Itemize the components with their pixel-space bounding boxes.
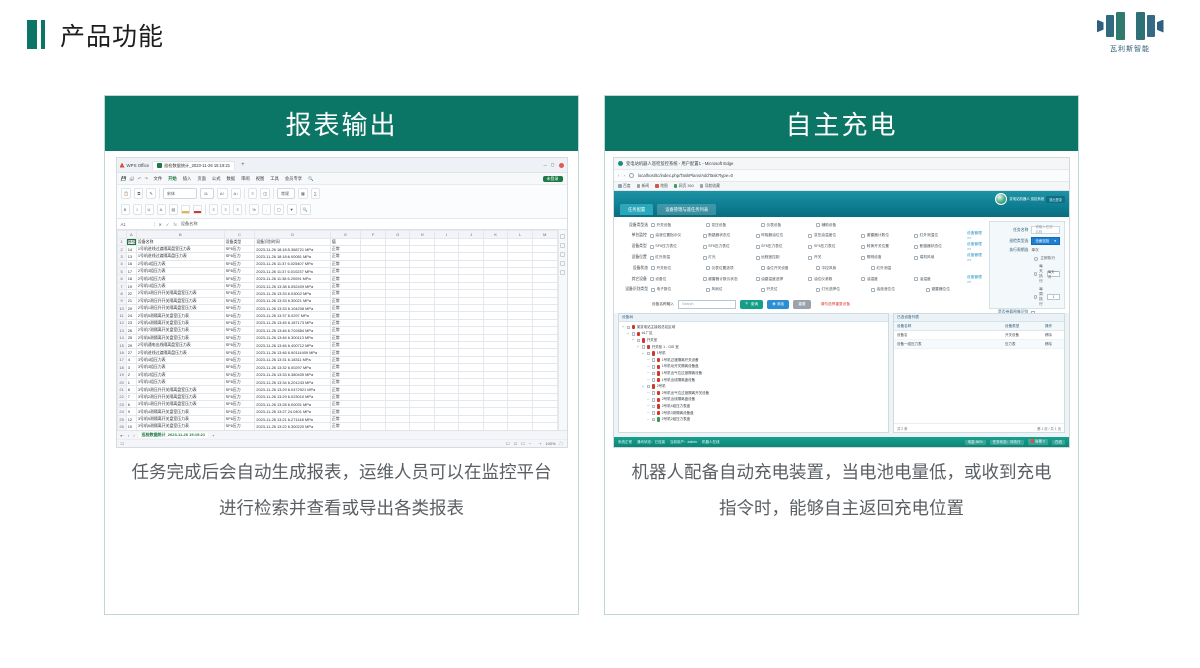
- cell-timestamp-value[interactable]: 2023-11-26 11:37 6.010237 MPa: [255, 268, 331, 275]
- wps-menu-bar[interactable]: 💾 🖨 ↶ ↷ 文件 开始 插入 页面 公式 数据 审阅 视图 工具 会员专享 …: [117, 173, 567, 185]
- device-checkbox[interactable]: 远程遥控制: [756, 255, 806, 260]
- empty-cell[interactable]: [483, 245, 508, 252]
- empty-cell[interactable]: [483, 297, 508, 304]
- selected-device-rows[interactable]: 设备名开关设备移除设备一组压力表压力表移除: [894, 331, 1064, 349]
- row-header[interactable]: 24: [117, 408, 126, 415]
- empty-cell[interactable]: [483, 253, 508, 260]
- empty-cell[interactable]: [434, 415, 459, 422]
- cell-device-name[interactable]: 3号机5测隔离开关盘室压力表: [136, 415, 224, 422]
- row-header[interactable]: 22: [117, 393, 126, 400]
- empty-cell[interactable]: [532, 371, 557, 378]
- cell-index[interactable]: 8: [126, 386, 136, 393]
- cell-timestamp-value[interactable]: 2023-11-26 13:27 24.0401 MPa: [255, 408, 331, 415]
- cell-index[interactable]: 12: [126, 415, 136, 422]
- table-row[interactable]: 2183号机3测压升开关隔离盘室压力表SF6压力2023-11-26 13:29…: [117, 386, 557, 393]
- device-manage-link[interactable]: 设备管理>>: [967, 275, 985, 284]
- table-row[interactable]: 4162号机4组压力表SF6压力2023-11-26 11:37 6.02540…: [117, 260, 557, 267]
- empty-cell[interactable]: [434, 253, 459, 260]
- empty-cell[interactable]: [361, 341, 386, 348]
- cell-device-type[interactable]: SF6压力: [224, 386, 255, 393]
- cell-timestamp-value[interactable]: 2023-11-26 13:33 6.380405 MPa: [255, 371, 331, 378]
- cell-device-type[interactable]: SF6压力: [224, 423, 255, 430]
- empty-cell[interactable]: [459, 312, 484, 319]
- help-panel-icon[interactable]: [560, 270, 565, 275]
- row-header[interactable]: 3: [117, 253, 126, 260]
- prev-sheet-icon[interactable]: ‹: [128, 433, 129, 438]
- checkbox-icon[interactable]: [861, 245, 865, 249]
- table-style-button[interactable]: ▦: [298, 188, 308, 199]
- radio-icon[interactable]: [1034, 295, 1037, 299]
- row-header[interactable]: 1: [117, 238, 126, 245]
- empty-cell[interactable]: [385, 245, 410, 252]
- checkbox-icon[interactable]: [651, 266, 655, 270]
- reset-button[interactable]: 重置: [793, 300, 810, 309]
- cell-device-name[interactable]: 3号机4组压力表: [136, 356, 224, 363]
- cell-result[interactable]: 正常: [330, 253, 361, 260]
- underline-button[interactable]: U: [145, 204, 154, 215]
- empty-cell[interactable]: [434, 245, 459, 252]
- cell-result[interactable]: 正常: [330, 312, 361, 319]
- table-row[interactable]: 7192号机1组压力表SF6压力2023-11-26 13:38 6.05240…: [117, 282, 557, 289]
- checkbox-icon[interactable]: [808, 256, 812, 260]
- empty-cell[interactable]: [508, 238, 533, 245]
- empty-cell[interactable]: [434, 393, 459, 400]
- empty-cell[interactable]: [483, 371, 508, 378]
- col-header-a[interactable]: A: [126, 231, 136, 239]
- cell-device-name[interactable]: 3号机3组压力表: [136, 364, 224, 371]
- checkbox-icon[interactable]: [816, 223, 820, 227]
- empty-cell[interactable]: [385, 415, 410, 422]
- cell-device-name[interactable]: 1号机进线过渡隔离盘室压力表: [136, 245, 224, 252]
- checkbox-icon[interactable]: [651, 223, 655, 227]
- tree-node[interactable]: +开关室: [622, 337, 885, 344]
- cell-timestamp-value[interactable]: 2023-11-26 13:28 6.00031 MPa: [255, 401, 331, 408]
- checkbox-icon[interactable]: [816, 288, 820, 292]
- bookmarks-bar[interactable]: 百度 新闻 地图 网页 360 导航收藏: [614, 182, 1069, 191]
- empty-cell[interactable]: [361, 415, 386, 422]
- device-checkbox[interactable]: 油位开关设备: [761, 266, 813, 271]
- device-checkbox[interactable]: 红外测温: [871, 266, 923, 271]
- checkbox-icon[interactable]: [761, 223, 765, 227]
- empty-cell[interactable]: [459, 319, 484, 326]
- empty-cell[interactable]: [532, 378, 557, 385]
- empty-cell[interactable]: [532, 415, 557, 422]
- device-checkbox[interactable]: 灯光选择位: [816, 287, 868, 292]
- empty-cell[interactable]: [385, 408, 410, 415]
- empty-cell[interactable]: [508, 401, 533, 408]
- fullscreen-icon[interactable]: ⛶: [560, 441, 563, 446]
- empty-cell[interactable]: [410, 282, 435, 289]
- device-checkbox[interactable]: SF6压力表位: [650, 244, 700, 249]
- empty-cell[interactable]: [434, 312, 459, 319]
- device-checkbox[interactable]: 避雷器位位: [926, 287, 978, 292]
- device-search-input[interactable]: Search: [678, 300, 736, 309]
- cell-result[interactable]: 正常: [330, 245, 361, 252]
- checkbox-icon[interactable]: [756, 234, 760, 238]
- empty-cell[interactable]: [532, 401, 557, 408]
- decrease-font-button[interactable]: A↓: [231, 188, 242, 199]
- checkbox-icon[interactable]: [914, 245, 918, 249]
- new-tab-button[interactable]: +: [238, 162, 248, 168]
- empty-cell[interactable]: [459, 349, 484, 356]
- cell-timestamp-value[interactable]: 2023-11-26 13:32 6.00297 MPa: [255, 364, 331, 371]
- empty-cell[interactable]: [434, 349, 459, 356]
- empty-cell[interactable]: [459, 305, 484, 312]
- tree-checkbox-icon[interactable]: [647, 352, 651, 356]
- device-checkbox[interactable]: 避雷器计数位: [861, 233, 911, 238]
- cell-device-type[interactable]: SF6压力: [224, 408, 255, 415]
- empty-cell[interactable]: [410, 334, 435, 341]
- device-checkbox[interactable]: 油液位置指示仪: [650, 233, 700, 238]
- row-header[interactable]: 17: [117, 356, 126, 363]
- quick-access-toolbar[interactable]: 💾 🖨 ↶ ↷: [121, 176, 148, 182]
- empty-cell[interactable]: [532, 423, 557, 430]
- table-row[interactable]: 12232号机4测隔离开关盘室压力表SF6压力2023-11-26 13:45 …: [117, 319, 557, 326]
- remove-device-button[interactable]: 移除: [1042, 340, 1064, 348]
- header-cell[interactable]: 值: [330, 238, 361, 245]
- cell-device-name[interactable]: 2号机通电出线隔离盘室压力表: [136, 341, 224, 348]
- empty-cell[interactable]: [361, 275, 386, 282]
- row-header[interactable]: 5: [117, 268, 126, 275]
- empty-cell[interactable]: [361, 268, 386, 275]
- autosum-button[interactable]: ∑: [311, 188, 320, 199]
- device-checkbox[interactable]: 开关: [808, 255, 858, 260]
- query-button[interactable]: 🔍 查询: [740, 300, 763, 309]
- url-text[interactable]: localhost/tc/index.php/TaskPlans/AddTask…: [638, 173, 733, 178]
- tree-node[interactable]: ─1号机过渡隔离开关设备: [622, 357, 885, 364]
- table-row[interactable]: 2273号机2测压升开关隔离盘室压力表SF6压力2023-11-26 13:29…: [117, 393, 557, 400]
- tree-toggle-icon[interactable]: +: [642, 352, 645, 356]
- row-header[interactable]: 10: [117, 305, 126, 312]
- row-header[interactable]: 8: [117, 290, 126, 297]
- cell-index[interactable]: 2: [126, 371, 136, 378]
- empty-cell[interactable]: [459, 378, 484, 385]
- empty-cell[interactable]: [361, 349, 386, 356]
- cell-device-name[interactable]: 2号机3测压升开关隔离盘室压力表: [136, 290, 224, 297]
- tree-node[interactable]: ─1号机出线隔离盘设备: [622, 377, 885, 384]
- tree-toggle-icon[interactable]: +: [622, 325, 625, 329]
- cell-timestamp-value[interactable]: 2023-11-26 18:18:6.00081 MPa: [255, 253, 331, 260]
- tree-toggle-icon[interactable]: ─: [647, 404, 650, 408]
- cell-index[interactable]: 14: [126, 245, 136, 252]
- empty-cell[interactable]: [459, 268, 484, 275]
- cell-timestamp-value[interactable]: 2023-11-26 13:46 6.400712 MPa: [255, 341, 331, 348]
- cell-device-name[interactable]: 3号机1测压升开关隔离盘室压力表: [136, 401, 224, 408]
- empty-cell[interactable]: [459, 245, 484, 252]
- tree-toggle-icon[interactable]: ─: [647, 418, 650, 422]
- tree-checkbox-icon[interactable]: [647, 385, 651, 389]
- header-cell[interactable]: 序号: [126, 238, 136, 245]
- tree-toggle-icon[interactable]: ─: [647, 371, 650, 375]
- empty-cell[interactable]: [483, 386, 508, 393]
- tree-checkbox-icon[interactable]: [652, 418, 656, 422]
- weekly-day-select[interactable]: 1: [1047, 294, 1060, 300]
- cell-index[interactable]: 19: [126, 282, 136, 289]
- table-row[interactable]: 8222号机3测压升开关隔离盘室压力表SF6压力2023-11-26 13:33…: [117, 290, 557, 297]
- col-header-k[interactable]: K: [483, 231, 508, 239]
- empty-cell[interactable]: [385, 334, 410, 341]
- empty-cell[interactable]: [483, 282, 508, 289]
- empty-cell[interactable]: [385, 319, 410, 326]
- empty-cell[interactable]: [434, 356, 459, 363]
- cell-result[interactable]: 正常: [330, 327, 361, 334]
- table-row[interactable]: 1序号设备名称设备类型设备识别时间值: [117, 238, 557, 245]
- empty-cell[interactable]: [410, 290, 435, 297]
- cell-device-name[interactable]: 2号机2测压升开关隔离盘室压力表: [136, 297, 224, 304]
- checkbox-icon[interactable]: [756, 256, 760, 260]
- empty-cell[interactable]: [483, 290, 508, 297]
- tree-node[interactable]: ─2号机出线隔离盘设备: [622, 397, 885, 404]
- empty-cell[interactable]: [532, 408, 557, 415]
- zoom-level[interactable]: 100%: [545, 441, 555, 446]
- tree-node[interactable]: +2号机: [622, 383, 885, 390]
- cell-device-name[interactable]: 2号机5测隔离开关盘室压力表: [136, 312, 224, 319]
- empty-cell[interactable]: [459, 290, 484, 297]
- row-header[interactable]: 2: [117, 245, 126, 252]
- cell-device-type[interactable]: SF6压力: [224, 297, 255, 304]
- empty-cell[interactable]: [361, 401, 386, 408]
- header-cell[interactable]: 设备名称: [136, 238, 224, 245]
- empty-cell[interactable]: [532, 364, 557, 371]
- cell-result[interactable]: 正常: [330, 393, 361, 400]
- col-header-g[interactable]: G: [385, 231, 410, 239]
- cell-index[interactable]: 17: [126, 268, 136, 275]
- cell-device-name[interactable]: 2号机4组压力表: [136, 260, 224, 267]
- empty-cell[interactable]: [434, 341, 459, 348]
- tree-checkbox-icon[interactable]: [652, 405, 656, 409]
- table-row[interactable]: 3131号机进线过渡隔离盘压力表SF6压力2023-11-26 18:18:6.…: [117, 253, 557, 260]
- tree-node[interactable]: +1号机: [622, 350, 885, 357]
- empty-cell[interactable]: [483, 275, 508, 282]
- empty-cell[interactable]: [483, 423, 508, 430]
- cell-device-name[interactable]: 2号机6测隔离开关盘室压力表: [136, 334, 224, 341]
- cell-device-name[interactable]: 2号机1组压力表: [136, 282, 224, 289]
- reading-view-icon[interactable]: ☐: [521, 441, 525, 446]
- tree-checkbox-icon[interactable]: [652, 398, 656, 402]
- empty-cell[interactable]: [483, 327, 508, 334]
- zoom-in-button[interactable]: +: [539, 441, 541, 446]
- cell-device-name[interactable]: 2号机1测压升开关隔离盘室压力表: [136, 305, 224, 312]
- empty-cell[interactable]: [508, 364, 533, 371]
- cell-timestamp-value[interactable]: 2023-11-26 13:46 6.90114409 MPa: [255, 349, 331, 356]
- checkbox-icon[interactable]: [926, 288, 930, 292]
- empty-cell[interactable]: [508, 349, 533, 356]
- col-header-e[interactable]: E: [330, 231, 361, 239]
- redo-icon[interactable]: ↷: [144, 176, 148, 182]
- browser-address-bar[interactable]: ‹ › localhost/tc/index.php/TaskPlans/Add…: [614, 170, 1069, 182]
- window-controls[interactable]: ─ ◻: [544, 162, 564, 168]
- checkbox-icon[interactable]: [914, 256, 918, 260]
- cell-index[interactable]: 10: [126, 423, 136, 430]
- empty-cell[interactable]: [410, 386, 435, 393]
- empty-cell[interactable]: [508, 275, 533, 282]
- tree-node[interactable]: ─2号机2组压力表盘: [622, 416, 885, 423]
- add-sheet-button[interactable]: +: [212, 433, 214, 438]
- empty-cell[interactable]: [434, 268, 459, 275]
- checkbox-icon[interactable]: [861, 234, 865, 238]
- sheet-side-rail[interactable]: [558, 230, 567, 430]
- checkbox-icon[interactable]: [703, 277, 707, 281]
- empty-cell[interactable]: [532, 341, 557, 348]
- checkbox-icon[interactable]: [914, 277, 918, 281]
- format-painter-button[interactable]: ✎: [146, 188, 155, 199]
- cell-device-name[interactable]: 3号机2组压力表: [136, 371, 224, 378]
- login-button[interactable]: 未登录: [543, 176, 563, 182]
- number-format-select[interactable]: 常规: [277, 188, 295, 199]
- back-icon[interactable]: ‹: [618, 173, 619, 178]
- cell-device-type[interactable]: SF6压力: [224, 312, 255, 319]
- tree-toggle-icon[interactable]: ─: [647, 398, 650, 402]
- row-header[interactable]: 13: [117, 327, 126, 334]
- cell-result[interactable]: 正常: [330, 260, 361, 267]
- device-manage-link[interactable]: 设备管理>>: [967, 253, 985, 262]
- col-header-l[interactable]: L: [508, 231, 533, 239]
- empty-cell[interactable]: [508, 305, 533, 312]
- cell-result[interactable]: 正常: [330, 415, 361, 422]
- empty-cell[interactable]: [385, 305, 410, 312]
- tree-toggle-icon[interactable]: +: [632, 338, 635, 342]
- tree-checkbox-icon[interactable]: [642, 345, 646, 349]
- cell-index[interactable]: 18: [126, 275, 136, 282]
- device-checkbox[interactable]: 风扇位: [706, 287, 758, 292]
- empty-cell[interactable]: [410, 341, 435, 348]
- empty-cell[interactable]: [434, 401, 459, 408]
- empty-cell[interactable]: [532, 260, 557, 267]
- close-icon[interactable]: [559, 163, 564, 168]
- col-header-j[interactable]: J: [459, 231, 484, 239]
- device-checkbox[interactable]: 油温度: [861, 277, 911, 282]
- empty-cell[interactable]: [385, 341, 410, 348]
- row-header[interactable]: 14: [117, 334, 126, 341]
- row-header[interactable]: 25: [117, 415, 126, 422]
- empty-cell[interactable]: [385, 253, 410, 260]
- align-right-button[interactable]: ≡: [233, 204, 242, 215]
- row-header[interactable]: 21: [117, 386, 126, 393]
- cell-device-type[interactable]: SF6压力: [224, 319, 255, 326]
- checkbox-icon[interactable]: [650, 245, 654, 249]
- empty-cell[interactable]: [508, 245, 533, 252]
- radio-immediate[interactable]: 立即执行: [994, 256, 1060, 261]
- spreadsheet-grid[interactable]: A B C D E F G H I J K L: [117, 230, 567, 430]
- empty-cell[interactable]: [410, 297, 435, 304]
- empty-cell[interactable]: [532, 334, 557, 341]
- cell-device-name[interactable]: 1号机进线过渡隔离盘压力表: [136, 253, 224, 260]
- empty-cell[interactable]: [508, 371, 533, 378]
- tree-toggle-icon[interactable]: +: [642, 385, 645, 389]
- font-color-button[interactable]: [193, 205, 202, 214]
- empty-cell[interactable]: [361, 245, 386, 252]
- tree-toggle-icon[interactable]: ─: [647, 378, 650, 382]
- device-checkbox[interactable]: SF6压力表位: [808, 244, 858, 249]
- table-row[interactable]: 1743号机4组压力表SF6压力2023-11-26 13:31 6.18311…: [117, 356, 557, 363]
- cell-result[interactable]: 正常: [330, 341, 361, 348]
- font-size-select[interactable]: 11: [200, 188, 214, 199]
- filter-button[interactable]: ▼: [287, 204, 297, 215]
- empty-cell[interactable]: [459, 253, 484, 260]
- empty-cell[interactable]: [410, 327, 435, 334]
- empty-cell[interactable]: [508, 319, 533, 326]
- empty-cell[interactable]: [508, 334, 533, 341]
- empty-cell[interactable]: [483, 260, 508, 267]
- empty-cell[interactable]: [410, 364, 435, 371]
- empty-cell[interactable]: [434, 290, 459, 297]
- cell-device-type[interactable]: SF6压力: [224, 253, 255, 260]
- cell-timestamp-value[interactable]: 2023-11-26 13:38 6.052409 MPa: [255, 282, 331, 289]
- next-sheet-icon[interactable]: ›: [133, 433, 134, 438]
- paste-button[interactable]: 📋: [121, 188, 132, 199]
- empty-cell[interactable]: [532, 238, 557, 245]
- cell-device-name[interactable]: 3号机1组压力表: [136, 378, 224, 385]
- add-button[interactable]: ✚ 添加: [767, 300, 789, 309]
- cell-index[interactable]: 25: [126, 334, 136, 341]
- table-row[interactable]: 26103号机6测隔离开关盘室压力表SF6压力2023-11-26 13:22 …: [117, 423, 557, 430]
- empty-cell[interactable]: [459, 275, 484, 282]
- logout-button[interactable]: 退出登录: [1046, 196, 1065, 203]
- cancel-edit-icon[interactable]: ✕: [159, 222, 163, 227]
- empty-cell[interactable]: [361, 334, 386, 341]
- empty-cell[interactable]: [385, 327, 410, 334]
- device-checkbox[interactable]: 仪表设备: [761, 223, 813, 228]
- cell-result[interactable]: 正常: [330, 290, 361, 297]
- empty-cell[interactable]: [532, 245, 557, 252]
- empty-cell[interactable]: [483, 415, 508, 422]
- cell-result[interactable]: 正常: [330, 297, 361, 304]
- device-checkbox[interactable]: 仪表位置选项: [706, 266, 758, 271]
- empty-cell[interactable]: [361, 371, 386, 378]
- empty-cell[interactable]: [483, 408, 508, 415]
- checkbox-icon[interactable]: [650, 277, 654, 281]
- empty-cell[interactable]: [483, 341, 508, 348]
- empty-cell[interactable]: [459, 393, 484, 400]
- empty-cell[interactable]: [434, 327, 459, 334]
- tree-node[interactable]: +开关柜 1 - GIS 室: [622, 344, 885, 351]
- empty-cell[interactable]: [508, 393, 533, 400]
- empty-cell[interactable]: [483, 319, 508, 326]
- menu-data[interactable]: 数据: [227, 176, 236, 182]
- cell-timestamp-value[interactable]: 2023-11-26 13:31 6.18311 MPa: [255, 356, 331, 363]
- checkbox-icon[interactable]: [703, 256, 707, 260]
- cell-timestamp-value[interactable]: 2023-11-26 13:33 6.03002 MPa: [255, 290, 331, 297]
- cell-result[interactable]: 正常: [330, 371, 361, 378]
- empty-cell[interactable]: [483, 364, 508, 371]
- header-cell[interactable]: [361, 238, 386, 245]
- empty-cell[interactable]: [410, 401, 435, 408]
- cell-index[interactable]: 27: [126, 349, 136, 356]
- checkbox-icon[interactable]: [706, 288, 710, 292]
- empty-cell[interactable]: [410, 371, 435, 378]
- save-icon[interactable]: 💾: [121, 176, 126, 182]
- corner-cell[interactable]: [117, 231, 126, 239]
- empty-cell[interactable]: [508, 356, 533, 363]
- cell-device-type[interactable]: SF6压力: [224, 275, 255, 282]
- device-manage-link[interactable]: 设备管理>>: [967, 242, 985, 251]
- cell-result[interactable]: 正常: [330, 334, 361, 341]
- empty-cell[interactable]: [434, 305, 459, 312]
- radio-icon[interactable]: [1034, 272, 1037, 276]
- zoom-out-button[interactable]: −: [529, 441, 531, 446]
- empty-cell[interactable]: [532, 305, 557, 312]
- table-row[interactable]: 1833号机3组压力表SF6压力2023-11-26 13:32 6.00297…: [117, 364, 557, 371]
- menu-review[interactable]: 审阅: [241, 176, 250, 182]
- tree-toggle-icon[interactable]: ─: [647, 358, 650, 362]
- tree-node[interactable]: ─2号机4组压力表盘: [622, 403, 885, 410]
- cell-result[interactable]: 正常: [330, 408, 361, 415]
- cell-index[interactable]: 7: [126, 393, 136, 400]
- empty-cell[interactable]: [361, 253, 386, 260]
- empty-cell[interactable]: [410, 245, 435, 252]
- empty-cell[interactable]: [434, 334, 459, 341]
- empty-cell[interactable]: [385, 401, 410, 408]
